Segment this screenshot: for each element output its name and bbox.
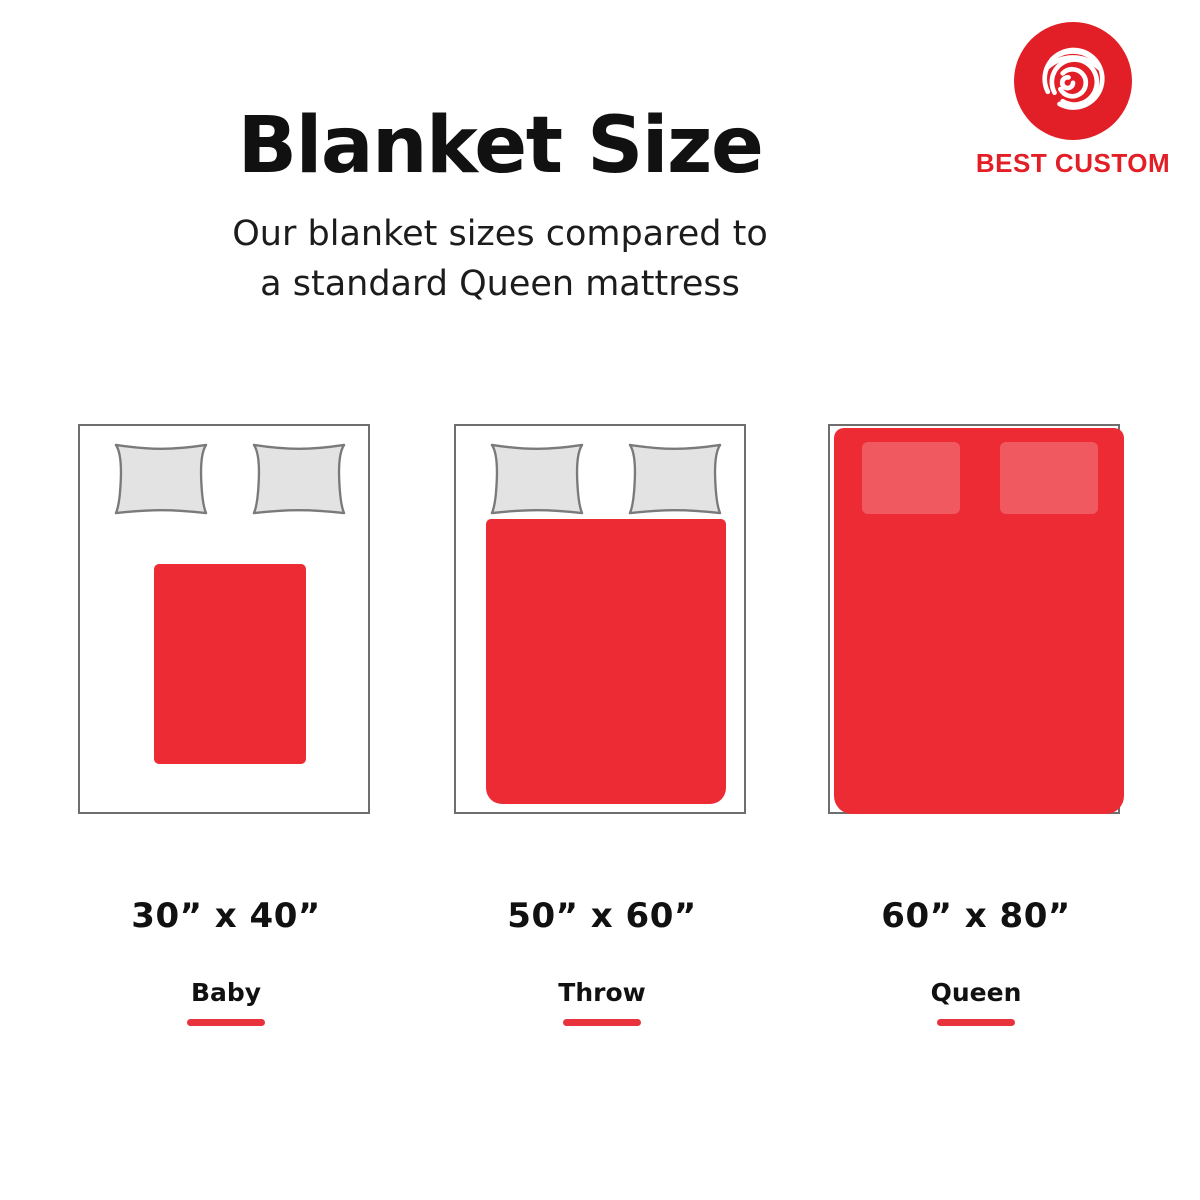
pillow-icon xyxy=(626,442,724,516)
bed-diagram-baby xyxy=(76,424,376,816)
mattress-outline xyxy=(828,424,1120,814)
mattress-outline xyxy=(454,424,746,814)
dimension-label: 50” x 60” xyxy=(442,896,762,936)
dimension-label: 30” x 40” xyxy=(66,896,386,936)
page-title: Blanket Size xyxy=(0,104,1000,188)
pillow-icon xyxy=(488,442,586,516)
bed-diagram-throw xyxy=(452,424,752,816)
pillow-icon xyxy=(250,442,348,516)
caption-row: 30” x 40” Baby 50” x 60” Throw 60” x 80”… xyxy=(0,896,1200,1056)
underline-bar xyxy=(563,1019,641,1026)
pillow-icon xyxy=(1000,442,1098,514)
subtitle-line-2: a standard Queen mattress xyxy=(0,260,1000,310)
size-name-label: Queen xyxy=(816,978,1136,1007)
subtitle-line-1: Our blanket sizes compared to xyxy=(0,210,1000,260)
caption-queen: 60” x 80” Queen xyxy=(816,896,1136,1026)
caption-throw: 50” x 60” Throw xyxy=(442,896,762,1026)
bed-diagram-queen xyxy=(826,424,1126,816)
blanket-throw xyxy=(486,519,726,804)
mattress-outline xyxy=(78,424,370,814)
pillow-icon xyxy=(862,442,960,514)
underline-bar xyxy=(937,1019,1015,1026)
dimension-label: 60” x 80” xyxy=(816,896,1136,936)
blanket-baby xyxy=(154,564,306,764)
underline-bar xyxy=(187,1019,265,1026)
size-name-label: Baby xyxy=(66,978,386,1007)
size-name-label: Throw xyxy=(442,978,762,1007)
heading-block: Blanket Size Our blanket sizes compared … xyxy=(0,104,1200,310)
pillow-icon xyxy=(112,442,210,516)
blanket-queen xyxy=(834,428,1124,814)
bed-diagram-row xyxy=(0,424,1200,816)
caption-baby: 30” x 40” Baby xyxy=(66,896,386,1026)
page-subtitle: Our blanket sizes compared to a standard… xyxy=(0,210,1000,309)
infographic-page: BEST CUSTOM Blanket Size Our blanket siz… xyxy=(0,0,1200,1200)
